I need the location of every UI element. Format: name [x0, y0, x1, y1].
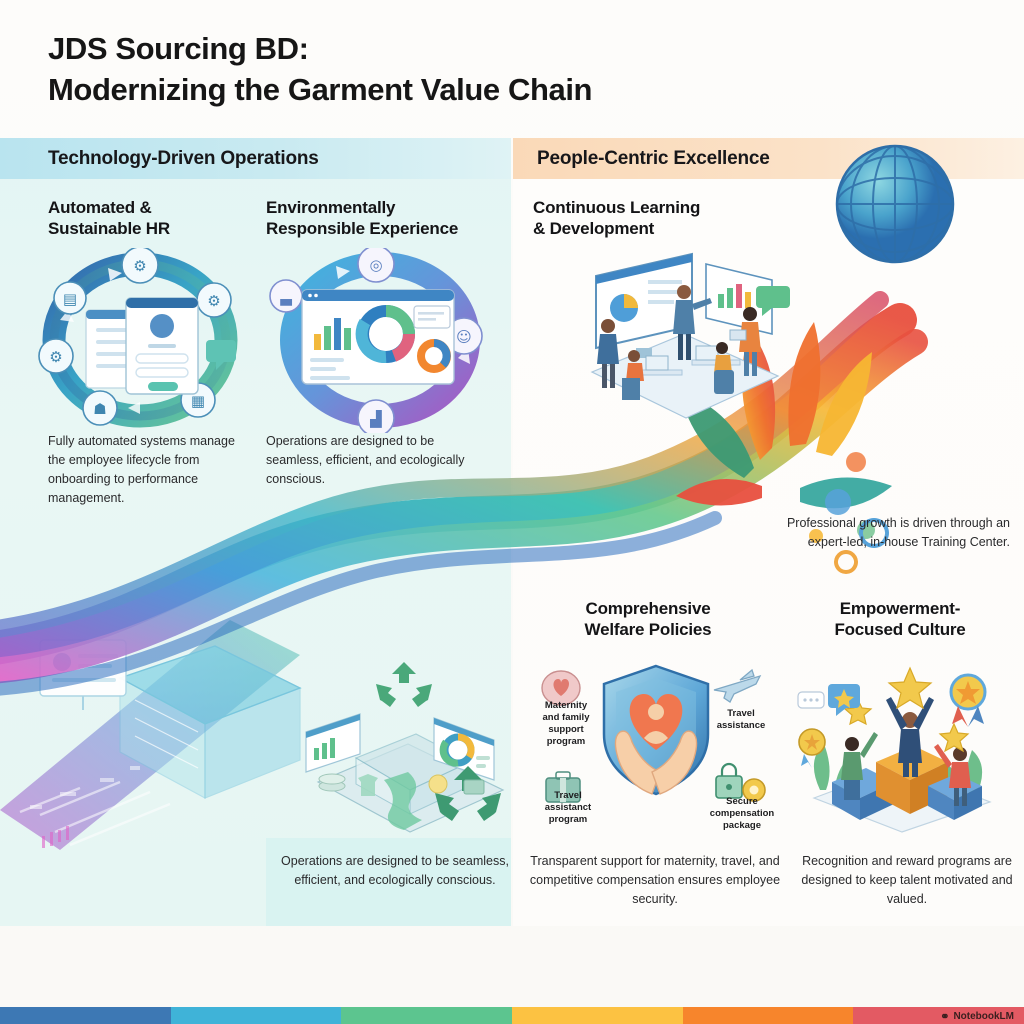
subheading-environmentally-responsible-experience: Environmentally Responsible Experience — [266, 197, 506, 240]
welfare-label-maternity: Maternityand familysupportprogram — [528, 700, 604, 748]
band-title-left: Technology-Driven Operations — [0, 148, 319, 170]
podium-winners-stars-awards — [790, 662, 1010, 834]
subheading-empowerment-focused-culture: Empowerment- Focused Culture — [790, 598, 1010, 641]
gear-icon: ⚙ — [207, 292, 220, 310]
footer-color-bar — [0, 1007, 1024, 1024]
page-title: JDS Sourcing BD: Modernizing the Garment… — [48, 28, 948, 110]
caption-comprehensive-welfare-policies: Transparent support for maternity, trave… — [524, 852, 786, 909]
shield-hands-heart-welfare — [596, 662, 716, 812]
recycle-icon — [376, 662, 432, 707]
isometric-data-center-cube — [0, 560, 310, 890]
watermark-label: NotebookLM — [953, 1011, 1014, 1022]
hr-automation-cycle-diagram: ⚙ ⚙ ▤ ⚙ ☗ ▦ — [30, 248, 270, 433]
caption-continuous-learning-development: Professional growth is driven through an… — [770, 514, 1010, 552]
award-ribbon-icon — [951, 675, 985, 727]
target-icon: ◎ — [369, 256, 382, 274]
isometric-training-center-scene — [566, 252, 802, 420]
notebooklm-icon: ⚭ — [940, 1010, 949, 1023]
caption-environmentally-responsible-experience: Operations are designed to be seamless, … — [266, 432, 481, 489]
document-icon: ▤ — [63, 290, 77, 308]
band-technology-driven-operations: Technology-Driven Operations — [0, 138, 511, 179]
caption-automated-sustainable-hr: Fully automated systems manage the emplo… — [48, 432, 253, 508]
subheading-continuous-learning-development: Continuous Learning & Development — [533, 197, 783, 240]
calendar-icon: ▦ — [191, 392, 205, 410]
welfare-label-travel-program: Travelassistanctprogram — [530, 790, 606, 826]
title-line-1: JDS Sourcing BD: — [48, 28, 948, 69]
subheading-automated-sustainable-hr: Automated & Sustainable HR — [48, 197, 258, 240]
growth-chart-icon: ▟ — [370, 410, 382, 428]
color-bar-segment-1 — [0, 1007, 171, 1024]
caption-empowerment-focused-culture: Recognition and reward programs are desi… — [796, 852, 1018, 909]
analytics-dashboard-cycle-diagram: ◎ ☺ ▟ ▃ — [258, 248, 508, 433]
bar-chart-icon: ▃ — [279, 288, 292, 306]
globe-icon — [830, 142, 960, 272]
title-line-2: Modernizing the Garment Value Chain — [48, 69, 948, 110]
color-bar-segment-2 — [171, 1007, 342, 1024]
color-bar-segment-3 — [341, 1007, 512, 1024]
welfare-label-travel-assistance: Travelassistance — [706, 708, 776, 732]
sustainable-factory-recycling-isometric — [288, 662, 520, 842]
robot-icon: ⚙ — [49, 348, 62, 366]
user-icon: ☺ — [456, 328, 472, 346]
notebooklm-watermark: ⚭ NotebookLM — [940, 1010, 1014, 1023]
airplane-icon — [710, 668, 764, 706]
infographic-canvas: JDS Sourcing BD: Modernizing the Garment… — [0, 0, 1024, 1024]
band-title-right: People-Centric Excellence — [513, 148, 770, 170]
caption-eco-operations: Operations are designed to be seamless, … — [276, 852, 514, 890]
robot-arm-icon: ⚙ — [133, 257, 146, 275]
welfare-label-secure-compensation: Securecompensationpackage — [700, 796, 784, 832]
subheading-comprehensive-welfare-policies: Comprehensive Welfare Policies — [533, 598, 763, 641]
color-bar-segment-4 — [512, 1007, 683, 1024]
worker-icon: ☗ — [93, 400, 106, 418]
color-bar-segment-5 — [683, 1007, 854, 1024]
